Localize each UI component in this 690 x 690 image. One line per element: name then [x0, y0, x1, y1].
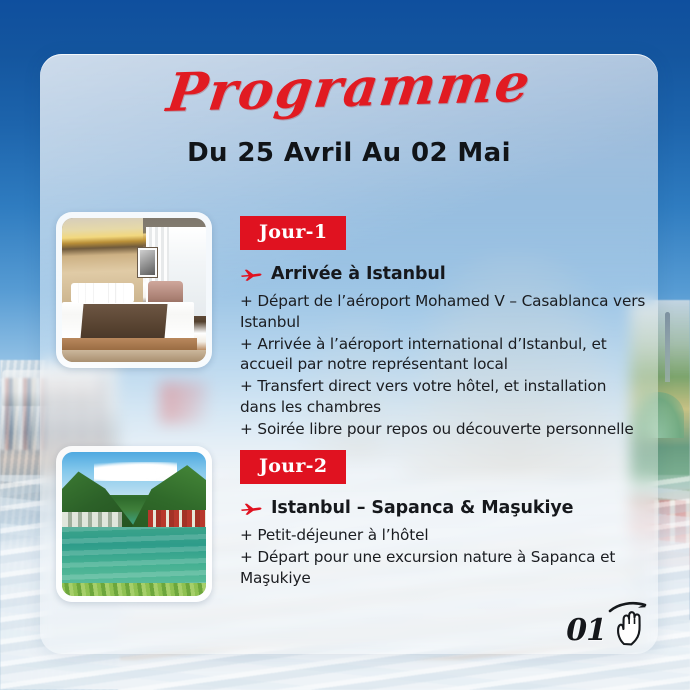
- hotel-floor: [62, 350, 206, 362]
- day-2-text-column: Jour-2 Istanbul – Sapanca & Maşukiye + P…: [212, 446, 646, 589]
- hotel-room-photo: [62, 218, 206, 362]
- day-block-2: Jour-2 Istanbul – Sapanca & Maşukiye + P…: [56, 446, 646, 602]
- lake-grass: [62, 583, 206, 596]
- day-block-1: Jour-1 Arrivée à Istanbul + Départ de l’…: [56, 212, 646, 441]
- day-1-bullet-2: + Arrivée à l’aéroport international d’I…: [240, 334, 646, 376]
- poster-canvas: Programme Du 25 Avril Au 02 Mai Jour-1: [0, 0, 690, 690]
- airplane-icon: [240, 501, 262, 516]
- lake-clouds: [94, 462, 178, 481]
- airplane-icon: [240, 267, 262, 282]
- day-1-bullet-3: + Transfert direct vers votre hôtel, et …: [240, 376, 646, 418]
- lake-water: [62, 527, 206, 587]
- day-1-badge: Jour-1: [240, 216, 346, 250]
- day-1-text-column: Jour-1 Arrivée à Istanbul + Départ de l’…: [212, 212, 646, 441]
- day-1-photo-frame: [56, 212, 212, 368]
- page-number: 01: [566, 613, 606, 648]
- poster-header: Programme Du 25 Avril Au 02 Mai: [40, 62, 658, 168]
- day-1-bullet-1: + Départ de l’aéroport Mohamed V – Casab…: [240, 291, 646, 333]
- minaret-background: [665, 312, 670, 382]
- hotel-pillows: [71, 283, 134, 303]
- day-2-bullets: + Petit-déjeuner à l’hôtel + Départ pour…: [240, 525, 646, 588]
- day-2-photo-frame: [56, 446, 212, 602]
- hotel-bed-runner: [81, 304, 168, 339]
- day-2-heading-row: Istanbul – Sapanca & Maşukiye: [240, 498, 646, 518]
- pointing-hand-icon: [608, 598, 654, 648]
- date-range-subtitle: Du 25 Avril Au 02 Mai: [40, 138, 658, 168]
- day-2-badge: Jour-2: [240, 450, 346, 484]
- day-2-bullet-2: + Départ pour une excursion nature à Sap…: [240, 547, 646, 589]
- page-title: Programme: [35, 53, 662, 123]
- page-number-group: 01: [566, 598, 654, 648]
- day-1-bullet-4: + Soirée libre pour repos ou découverte …: [240, 419, 646, 440]
- hotel-wall-art: [137, 247, 158, 278]
- day-2-bullet-1: + Petit-déjeuner à l’hôtel: [240, 525, 646, 546]
- day-1-bullets: + Départ de l’aéroport Mohamed V – Casab…: [240, 291, 646, 440]
- day-1-heading-row: Arrivée à Istanbul: [240, 264, 646, 284]
- sapanca-lake-photo: [62, 452, 206, 596]
- day-2-heading: Istanbul – Sapanca & Maşukiye: [271, 498, 573, 518]
- day-1-heading: Arrivée à Istanbul: [271, 264, 446, 284]
- lake-shore-left: [62, 512, 122, 526]
